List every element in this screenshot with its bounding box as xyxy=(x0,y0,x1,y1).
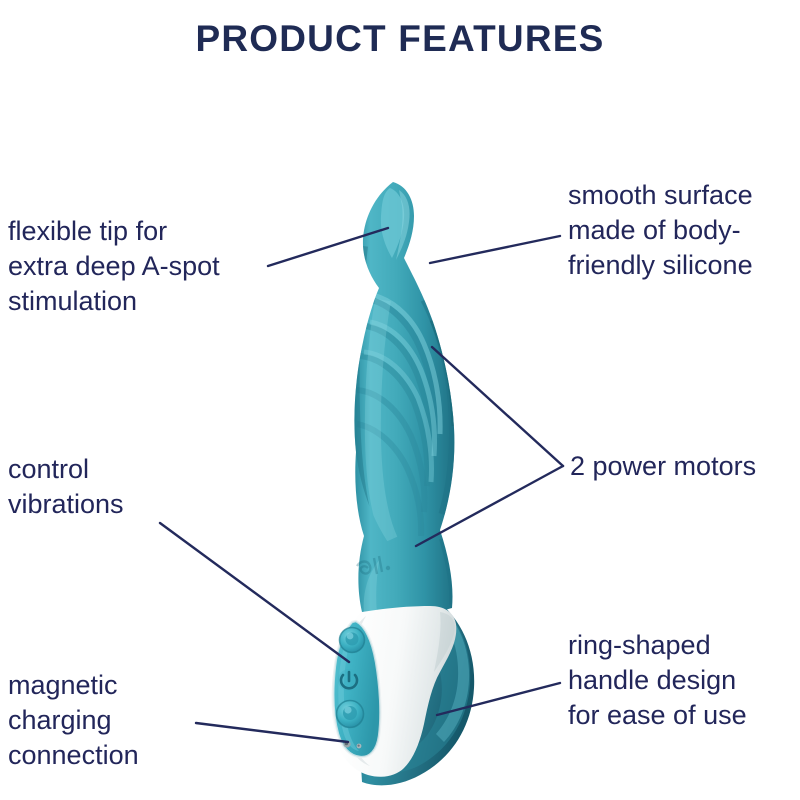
leader-line-control xyxy=(160,523,349,662)
leader-line-motors-b xyxy=(416,466,563,546)
leader-lines xyxy=(0,0,800,800)
leader-line-motors-a xyxy=(432,347,563,466)
leader-line-ring xyxy=(437,683,560,715)
leader-line-surface xyxy=(430,236,560,263)
leader-line-tip xyxy=(268,228,388,266)
leader-line-magnetic xyxy=(196,723,348,742)
product-features-infographic: PRODUCT FEATURES xyxy=(0,0,800,800)
